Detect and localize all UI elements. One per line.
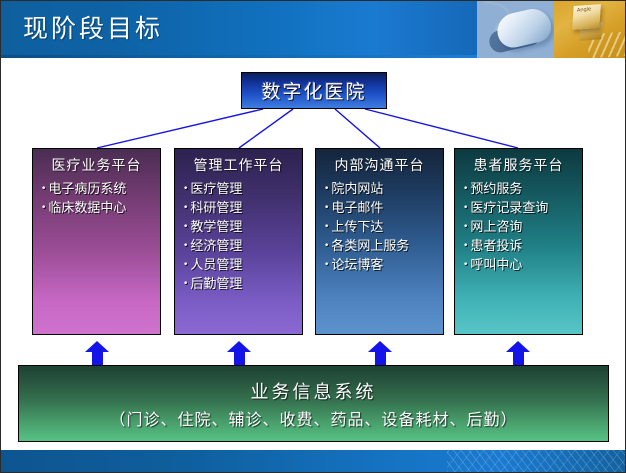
mouse-photo	[477, 1, 554, 58]
list-item[interactable]: 医疗管理	[183, 180, 302, 199]
platform-title: 内部沟通平台	[316, 158, 443, 175]
platform-card-internal-communication[interactable]: 内部沟通平台 院内网站 电子邮件 上传下达 各类网上服务 论坛博客	[315, 148, 444, 335]
list-item[interactable]: 临床数据中心	[41, 199, 160, 218]
slide-header: 现阶段目标 Angle	[1, 1, 626, 58]
list-item[interactable]: 患者投诉	[463, 237, 582, 256]
list-item[interactable]: 预约服务	[463, 180, 582, 199]
up-arrow-icon	[85, 341, 109, 367]
slide-footer	[1, 450, 626, 472]
platform-card-management-work[interactable]: 管理工作平台 医疗管理 科研管理 教学管理 经济管理 人员管理 后勤管理	[174, 148, 303, 335]
platform-item-list: 院内网站 电子邮件 上传下达 各类网上服务 论坛博客	[316, 180, 443, 275]
root-node-label: 数字化医院	[261, 77, 366, 104]
keyboard-photo: Angle	[554, 1, 626, 58]
list-item[interactable]: 网上咨询	[463, 218, 582, 237]
keycap-label: Angle	[577, 6, 592, 14]
list-item[interactable]: 医疗记录查询	[463, 199, 582, 218]
list-item[interactable]: 科研管理	[183, 199, 302, 218]
list-item[interactable]: 人员管理	[183, 256, 302, 275]
list-item[interactable]: 呼叫中心	[463, 256, 582, 275]
platform-card-patient-service[interactable]: 患者服务平台 预约服务 医疗记录查询 网上咨询 患者投诉 呼叫中心	[454, 148, 583, 335]
root-node-digital-hospital[interactable]: 数字化医院	[241, 72, 387, 109]
up-arrow-icon	[506, 341, 530, 367]
list-item[interactable]: 论坛博客	[324, 256, 443, 275]
list-item[interactable]: 各类网上服务	[324, 237, 443, 256]
platform-title: 患者服务平台	[455, 158, 582, 175]
platform-item-list: 电子病历系统 临床数据中心	[33, 180, 160, 218]
base-node-business-information-system[interactable]: 业务信息系统 （门诊、住院、辅诊、收费、药品、设备耗材、后勤）	[18, 365, 609, 442]
list-item[interactable]: 电子邮件	[324, 199, 443, 218]
slide-canvas: 现阶段目标 Angle 数字化医院 医疗业务平台 电子	[0, 0, 626, 473]
list-item[interactable]: 电子病历系统	[41, 180, 160, 199]
platform-title: 医疗业务平台	[33, 158, 160, 175]
list-item[interactable]: 院内网站	[324, 180, 443, 199]
base-node-title: 业务信息系统	[251, 378, 377, 404]
platform-card-medical-business[interactable]: 医疗业务平台 电子病历系统 临床数据中心	[32, 148, 161, 335]
list-item[interactable]: 上传下达	[324, 218, 443, 237]
platform-item-list: 医疗管理 科研管理 教学管理 经济管理 人员管理 后勤管理	[175, 180, 302, 294]
platform-title: 管理工作平台	[175, 158, 302, 175]
org-diagram: 数字化医院 医疗业务平台 电子病历系统 临床数据中心 管理工作平台 医疗管理 科…	[1, 58, 626, 452]
list-item[interactable]: 后勤管理	[183, 275, 302, 294]
page-title: 现阶段目标	[23, 10, 163, 48]
base-node-subtitle: （门诊、住院、辅诊、收费、药品、设备耗材、后勤）	[109, 406, 517, 430]
up-arrow-icon	[368, 341, 392, 367]
platform-item-list: 预约服务 医疗记录查询 网上咨询 患者投诉 呼叫中心	[455, 180, 582, 275]
up-arrow-icon	[227, 341, 251, 367]
list-item[interactable]: 教学管理	[183, 218, 302, 237]
list-item[interactable]: 经济管理	[183, 237, 302, 256]
